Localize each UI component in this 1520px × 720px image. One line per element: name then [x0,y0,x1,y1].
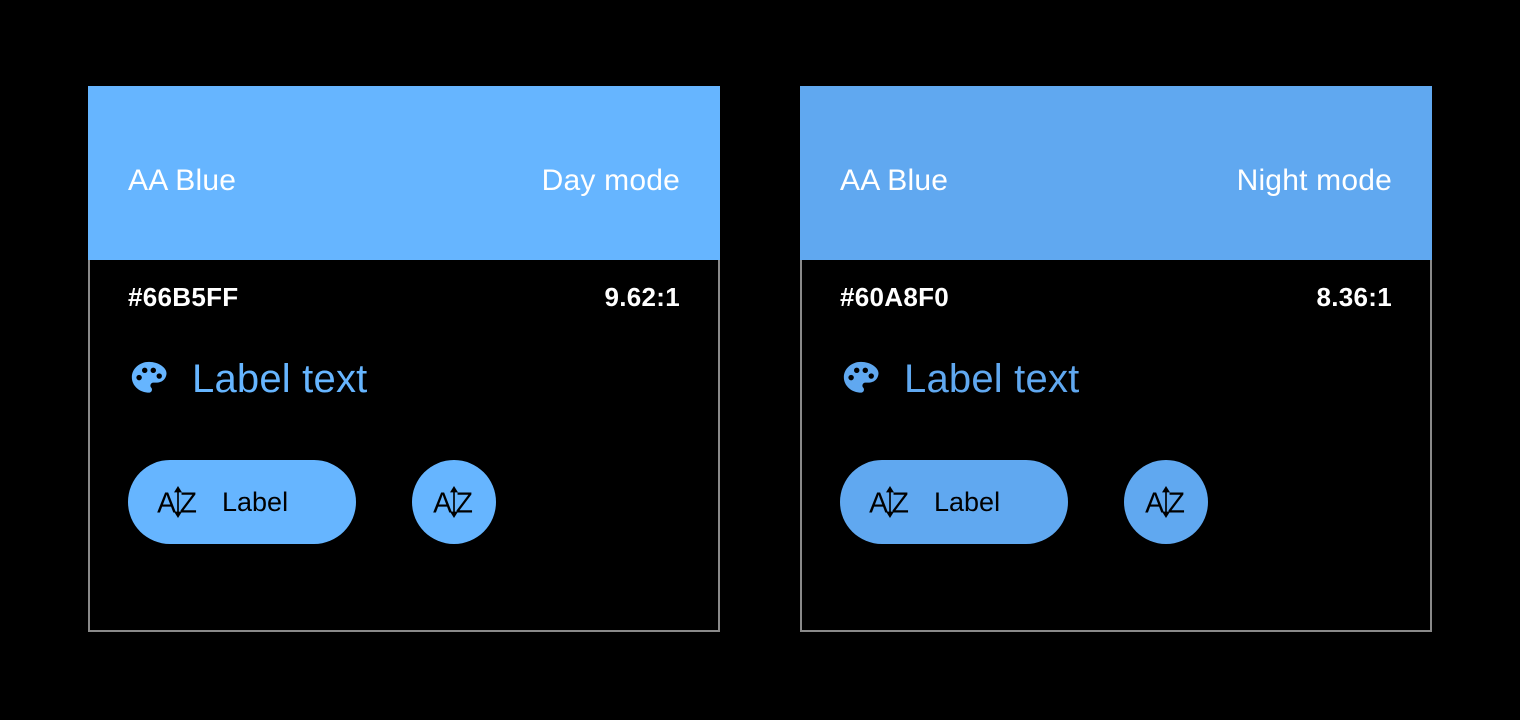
svg-text:A: A [433,487,452,519]
spec-row-night: #60A8F0 8.36:1 [840,282,1392,313]
card-header-night: AA Blue Night mode [800,86,1432,260]
swatch-card-day: AA Blue Day mode #66B5FF 9.62:1 Label te… [88,86,720,632]
svg-text:Z: Z [1168,487,1185,519]
pill-button-label-night: Label [934,487,1000,518]
card-header-day: AA Blue Day mode [88,86,720,260]
sort-alpha-az-icon: A Z [868,482,912,522]
button-row-night: A Z Label A Z [840,460,1208,544]
hex-value-day: #66B5FF [128,282,238,313]
svg-text:Z: Z [180,487,197,519]
fab-button-night[interactable]: A Z [1124,460,1208,544]
card-body-night: #60A8F0 8.36:1 Label text A Z [800,260,1432,632]
sort-alpha-az-icon: A Z [432,482,476,522]
card-header-content-day: AA Blue Day mode [128,164,680,198]
contrast-ratio-night: 8.36:1 [1316,282,1392,313]
label-text-night: Label text [904,359,1079,399]
label-row-night: Label text [840,358,1079,400]
fab-button-day[interactable]: A Z [412,460,496,544]
label-text-day: Label text [192,359,367,399]
swatch-card-night: AA Blue Night mode #60A8F0 8.36:1 Label … [800,86,1432,632]
sort-alpha-az-icon: A Z [1144,482,1188,522]
card-body-day: #66B5FF 9.62:1 Label text A Z [88,260,720,632]
card-mode-label-night: Night mode [1237,164,1392,198]
card-mode-label-day: Day mode [542,164,680,198]
svg-text:Z: Z [456,487,473,519]
svg-text:A: A [157,487,176,519]
svg-text:A: A [869,487,888,519]
preview-stage: AA Blue Day mode #66B5FF 9.62:1 Label te… [0,0,1520,720]
palette-icon [840,358,882,400]
palette-icon [128,358,170,400]
spec-row-day: #66B5FF 9.62:1 [128,282,680,313]
pill-button-label-day: Label [222,487,288,518]
svg-text:Z: Z [892,487,909,519]
card-title-night: AA Blue [840,164,948,198]
button-row-day: A Z Label A Z [128,460,496,544]
contrast-ratio-day: 9.62:1 [604,282,680,313]
card-title-day: AA Blue [128,164,236,198]
pill-button-night[interactable]: A Z Label [840,460,1068,544]
label-row-day: Label text [128,358,367,400]
svg-text:A: A [1145,487,1164,519]
pill-button-day[interactable]: A Z Label [128,460,356,544]
hex-value-night: #60A8F0 [840,282,949,313]
sort-alpha-az-icon: A Z [156,482,200,522]
card-header-content-night: AA Blue Night mode [840,164,1392,198]
